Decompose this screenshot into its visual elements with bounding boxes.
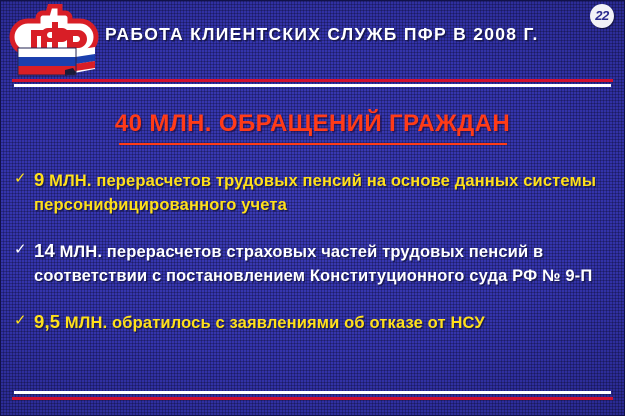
checkmark-icon: ✓ xyxy=(14,171,30,186)
page-number-badge: 22 xyxy=(590,4,614,28)
checkmark-icon: ✓ xyxy=(14,313,30,328)
list-item-lead-number: 14 xyxy=(34,240,55,261)
emblem-shape xyxy=(12,6,96,54)
pfr-emblem-logo xyxy=(9,4,101,80)
list-item-body: МЛН. обратилось с заявлениями об отказе … xyxy=(60,314,485,332)
footer-divider-red xyxy=(12,397,613,400)
list-item-lead-number: 9 xyxy=(34,169,44,190)
bullet-list: ✓ 9 МЛН. перерасчетов трудовых пенсий на… xyxy=(14,168,614,350)
list-item-body: МЛН. перерасчетов страховых частей трудо… xyxy=(34,243,592,285)
footer-divider-white xyxy=(14,391,611,394)
pfr-logo-svg xyxy=(9,4,101,80)
list-item-text: 9,5 МЛН. обратилось с заявлениями об отк… xyxy=(34,310,614,335)
main-heading-underline xyxy=(119,143,507,145)
list-item-lead-number: 9,5 xyxy=(34,311,60,332)
list-item: ✓ 14 МЛН. перерасчетов страховых частей … xyxy=(14,239,614,288)
list-item-text: 9 МЛН. перерасчетов трудовых пенсий на о… xyxy=(34,168,614,217)
header-divider-white xyxy=(14,84,611,87)
page-title: РАБОТА КЛИЕНТСКИХ СЛУЖБ ПФР В 2008 Г. xyxy=(105,24,575,45)
list-item: ✓ 9 МЛН. перерасчетов трудовых пенсий на… xyxy=(14,168,614,217)
header-divider-red xyxy=(12,79,613,82)
checkmark-icon: ✓ xyxy=(14,242,30,257)
list-item-text: 14 МЛН. перерасчетов страховых частей тр… xyxy=(34,239,614,288)
main-heading: 40 МЛН. ОБРАЩЕНИЙ ГРАЖДАН xyxy=(0,110,625,138)
list-item: ✓ 9,5 МЛН. обратилось с заявлениями об о… xyxy=(14,310,614,335)
russian-flag-ribbon xyxy=(18,47,95,76)
slide-header: РАБОТА КЛИЕНТСКИХ СЛУЖБ ПФР В 2008 Г. 22 xyxy=(0,0,625,88)
presentation-slide: РАБОТА КЛИЕНТСКИХ СЛУЖБ ПФР В 2008 Г. 22… xyxy=(0,0,625,416)
list-item-body: МЛН. перерасчетов трудовых пенсий на осн… xyxy=(34,172,596,214)
